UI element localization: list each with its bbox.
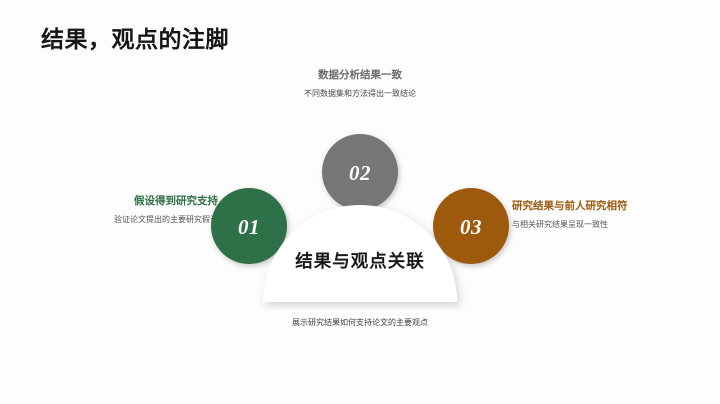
page-title: 结果，观点的注脚	[41, 26, 229, 54]
caption-group-01: 假设得到研究支持 验证论文提出的主要研究假设	[0, 194, 222, 226]
badge-03-number: 03	[460, 215, 482, 239]
bottom-note-group: 展示研究结果如何支持论文的主要观点	[0, 318, 720, 329]
bottom-note: 展示研究结果如何支持论文的主要观点	[0, 318, 720, 329]
caption-group-03: 研究结果与前人研究相符 与相关研究结果呈现一致性	[512, 199, 720, 231]
caption-heading-03: 研究结果与前人研究相符	[512, 199, 720, 213]
caption-heading-01: 假设得到研究支持	[0, 194, 218, 208]
badge-01-number: 01	[238, 215, 260, 239]
badge-01[interactable]: 01	[211, 188, 287, 264]
caption-sub-02: 不同数据集和方法得出一致结论	[0, 89, 720, 100]
center-dome[interactable]: 结果与观点关联	[263, 205, 457, 302]
arch-diagram: 01 02 03 结果与观点关联	[190, 130, 530, 310]
badge-02-number: 02	[349, 161, 371, 185]
caption-group-02: 数据分析结果一致 不同数据集和方法得出一致结论	[0, 68, 720, 100]
caption-sub-01: 验证论文提出的主要研究假设	[0, 215, 218, 226]
center-dome-label: 结果与观点关联	[295, 251, 425, 271]
caption-heading-02: 数据分析结果一致	[0, 68, 720, 82]
caption-sub-03: 与相关研究结果呈现一致性	[512, 220, 720, 231]
slide-canvas: 结果，观点的注脚 数据分析结果一致 不同数据集和方法得出一致结论 假设得到研究支…	[0, 0, 720, 404]
badge-02[interactable]: 02	[322, 134, 398, 210]
arch-svg: 01 02 03 结果与观点关联	[190, 130, 530, 310]
badge-03[interactable]: 03	[433, 188, 509, 264]
